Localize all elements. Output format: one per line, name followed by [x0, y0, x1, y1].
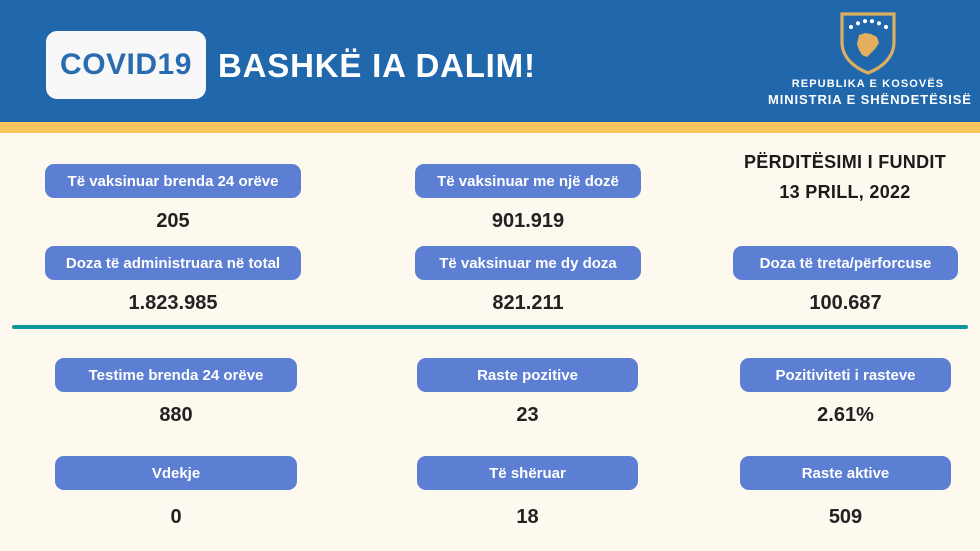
emblem-ministry-label: MINISTRIA E SHËNDETËSISË — [768, 92, 968, 107]
stat-label-recovered: Të shëruar — [417, 456, 638, 490]
stat-label-positivity-rate: Pozitiviteti i rasteve — [740, 358, 951, 392]
stat-label-vaccinated-24h: Të vaksinuar brenda 24 orëve — [45, 164, 301, 198]
stat-value-booster-doses: 100.687 — [733, 292, 958, 315]
gold-accent-stripe — [0, 122, 980, 133]
stat-value-active-cases: 509 — [740, 506, 951, 529]
stat-label-positive-cases: Raste pozitive — [417, 358, 638, 392]
last-update-title: PËRDITËSIMI I FUNDIT — [710, 152, 980, 173]
stat-label-deaths: Vdekje — [55, 456, 297, 490]
stat-label-two-doses: Të vaksinuar me dy doza — [415, 246, 641, 280]
stat-value-positive-cases: 23 — [417, 404, 638, 427]
covid19-logo-badge: COVID19 — [46, 31, 206, 99]
last-update-date: 13 PRILL, 2022 — [710, 182, 980, 203]
ministry-emblem-block: REPUBLIKA E KOSOVËS MINISTRIA E SHËNDETË… — [768, 8, 968, 107]
last-update-block: PËRDITËSIMI I FUNDIT 13 PRILL, 2022 — [710, 152, 980, 203]
stat-label-tests-24h: Testime brenda 24 orëve — [55, 358, 297, 392]
emblem-country-label: REPUBLIKA E KOSOVËS — [768, 78, 968, 90]
stat-value-two-doses: 821.211 — [415, 292, 641, 315]
stat-value-one-dose: 901.919 — [415, 210, 641, 233]
header-slogan: BASHKË IA DALIM! — [218, 47, 536, 85]
stat-value-recovered: 18 — [417, 506, 638, 529]
stat-label-active-cases: Raste aktive — [740, 456, 951, 490]
stat-label-total-doses: Doza të administruara në total — [45, 246, 301, 280]
stat-value-total-doses: 1.823.985 — [45, 292, 301, 315]
section-divider — [12, 325, 968, 329]
stat-label-one-dose: Të vaksinuar me një dozë — [415, 164, 641, 198]
kosovo-coat-of-arms-icon — [837, 8, 899, 76]
page-header: COVID19 BASHKË IA DALIM! REPUBLIKA E KOS… — [0, 0, 980, 122]
stat-value-deaths: 0 — [55, 506, 297, 529]
stat-value-tests-24h: 880 — [55, 404, 297, 427]
stat-value-vaccinated-24h: 205 — [45, 210, 301, 233]
stat-value-positivity-rate: 2.61% — [740, 404, 951, 427]
stat-label-booster-doses: Doza të treta/përforcuse — [733, 246, 958, 280]
covid19-logo-text: COVID19 — [60, 48, 192, 82]
